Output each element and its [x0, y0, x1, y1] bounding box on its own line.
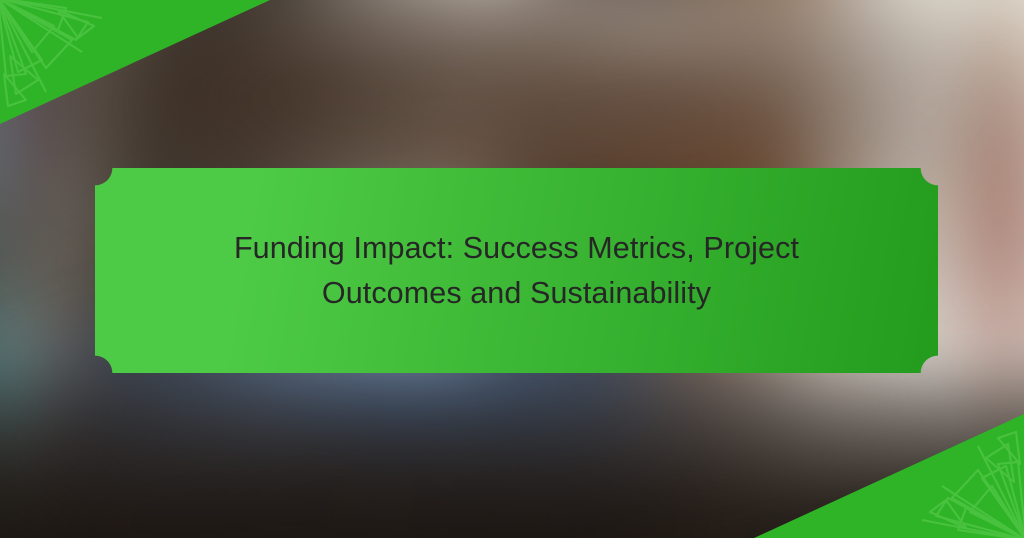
- page-title: Funding Impact: Success Metrics, Project…: [217, 226, 817, 316]
- title-banner: Funding Impact: Success Metrics, Project…: [95, 168, 938, 373]
- featured-image-canvas: Funding Impact: Success Metrics, Project…: [0, 0, 1024, 538]
